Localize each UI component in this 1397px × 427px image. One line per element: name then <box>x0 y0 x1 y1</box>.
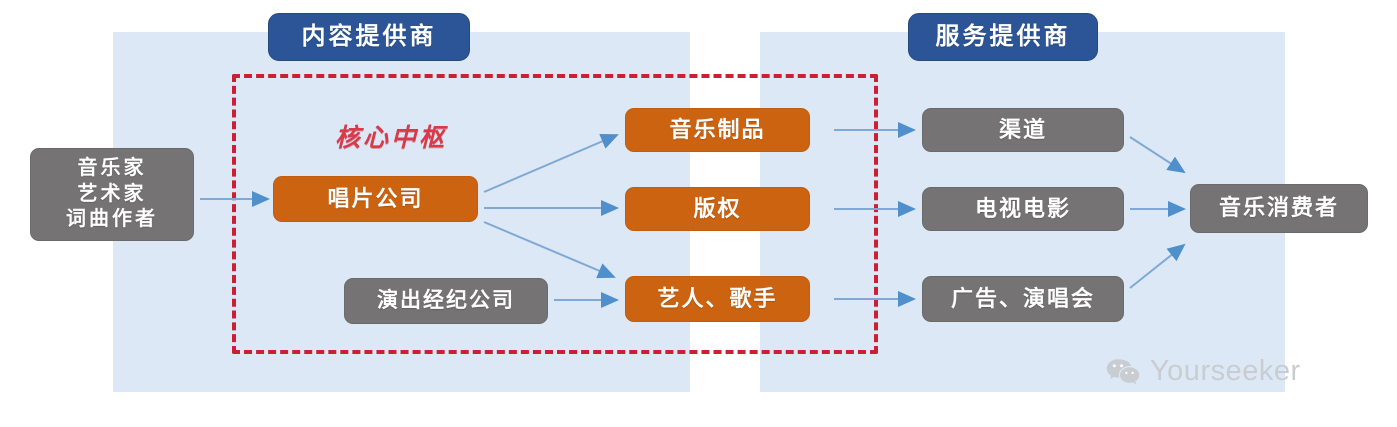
node-performance-agency-label: 演出经纪公司 <box>377 288 515 315</box>
node-ads-concerts[interactable]: 广告、演唱会 <box>922 276 1124 322</box>
node-channel-label: 渠道 <box>999 116 1047 144</box>
node-channel[interactable]: 渠道 <box>922 108 1124 152</box>
watermark: Yourseeker <box>1106 355 1301 388</box>
node-record-company[interactable]: 唱片公司 <box>273 176 478 222</box>
header-service-provider: 服务提供商 <box>908 13 1098 61</box>
node-creators-line-2: 艺术家 <box>78 182 147 208</box>
node-creators-line-3: 词曲作者 <box>66 207 158 233</box>
header-content-provider-label: 内容提供商 <box>302 22 437 53</box>
node-creators-line-1: 音乐家 <box>78 156 147 182</box>
node-music-products-label: 音乐制品 <box>669 116 765 144</box>
node-music-consumers-label: 音乐消费者 <box>1219 194 1339 222</box>
node-copyright-label: 版权 <box>693 195 741 223</box>
node-artists-singers-label: 艺人、歌手 <box>657 285 777 313</box>
header-service-provider-label: 服务提供商 <box>936 22 1071 53</box>
core-hub-label: 核心中枢 <box>335 118 447 154</box>
node-record-company-label: 唱片公司 <box>327 185 423 213</box>
node-ads-concerts-label: 广告、演唱会 <box>951 285 1095 313</box>
node-music-products[interactable]: 音乐制品 <box>625 108 810 152</box>
diagram-canvas: 内容提供商 服务提供商 核心中枢 音乐家 艺术家 词曲作者 唱片公司 演出经纪公… <box>0 0 1397 427</box>
node-artists-singers[interactable]: 艺人、歌手 <box>625 276 810 322</box>
header-content-provider: 内容提供商 <box>268 13 470 61</box>
node-tv-film[interactable]: 电视电影 <box>922 187 1124 231</box>
watermark-text: Yourseeker <box>1150 355 1301 388</box>
node-creators[interactable]: 音乐家 艺术家 词曲作者 <box>30 148 194 241</box>
wechat-icon <box>1106 358 1140 386</box>
node-music-consumers[interactable]: 音乐消费者 <box>1190 184 1368 233</box>
node-copyright[interactable]: 版权 <box>625 187 810 231</box>
node-performance-agency[interactable]: 演出经纪公司 <box>344 278 548 324</box>
node-tv-film-label: 电视电影 <box>975 195 1071 223</box>
